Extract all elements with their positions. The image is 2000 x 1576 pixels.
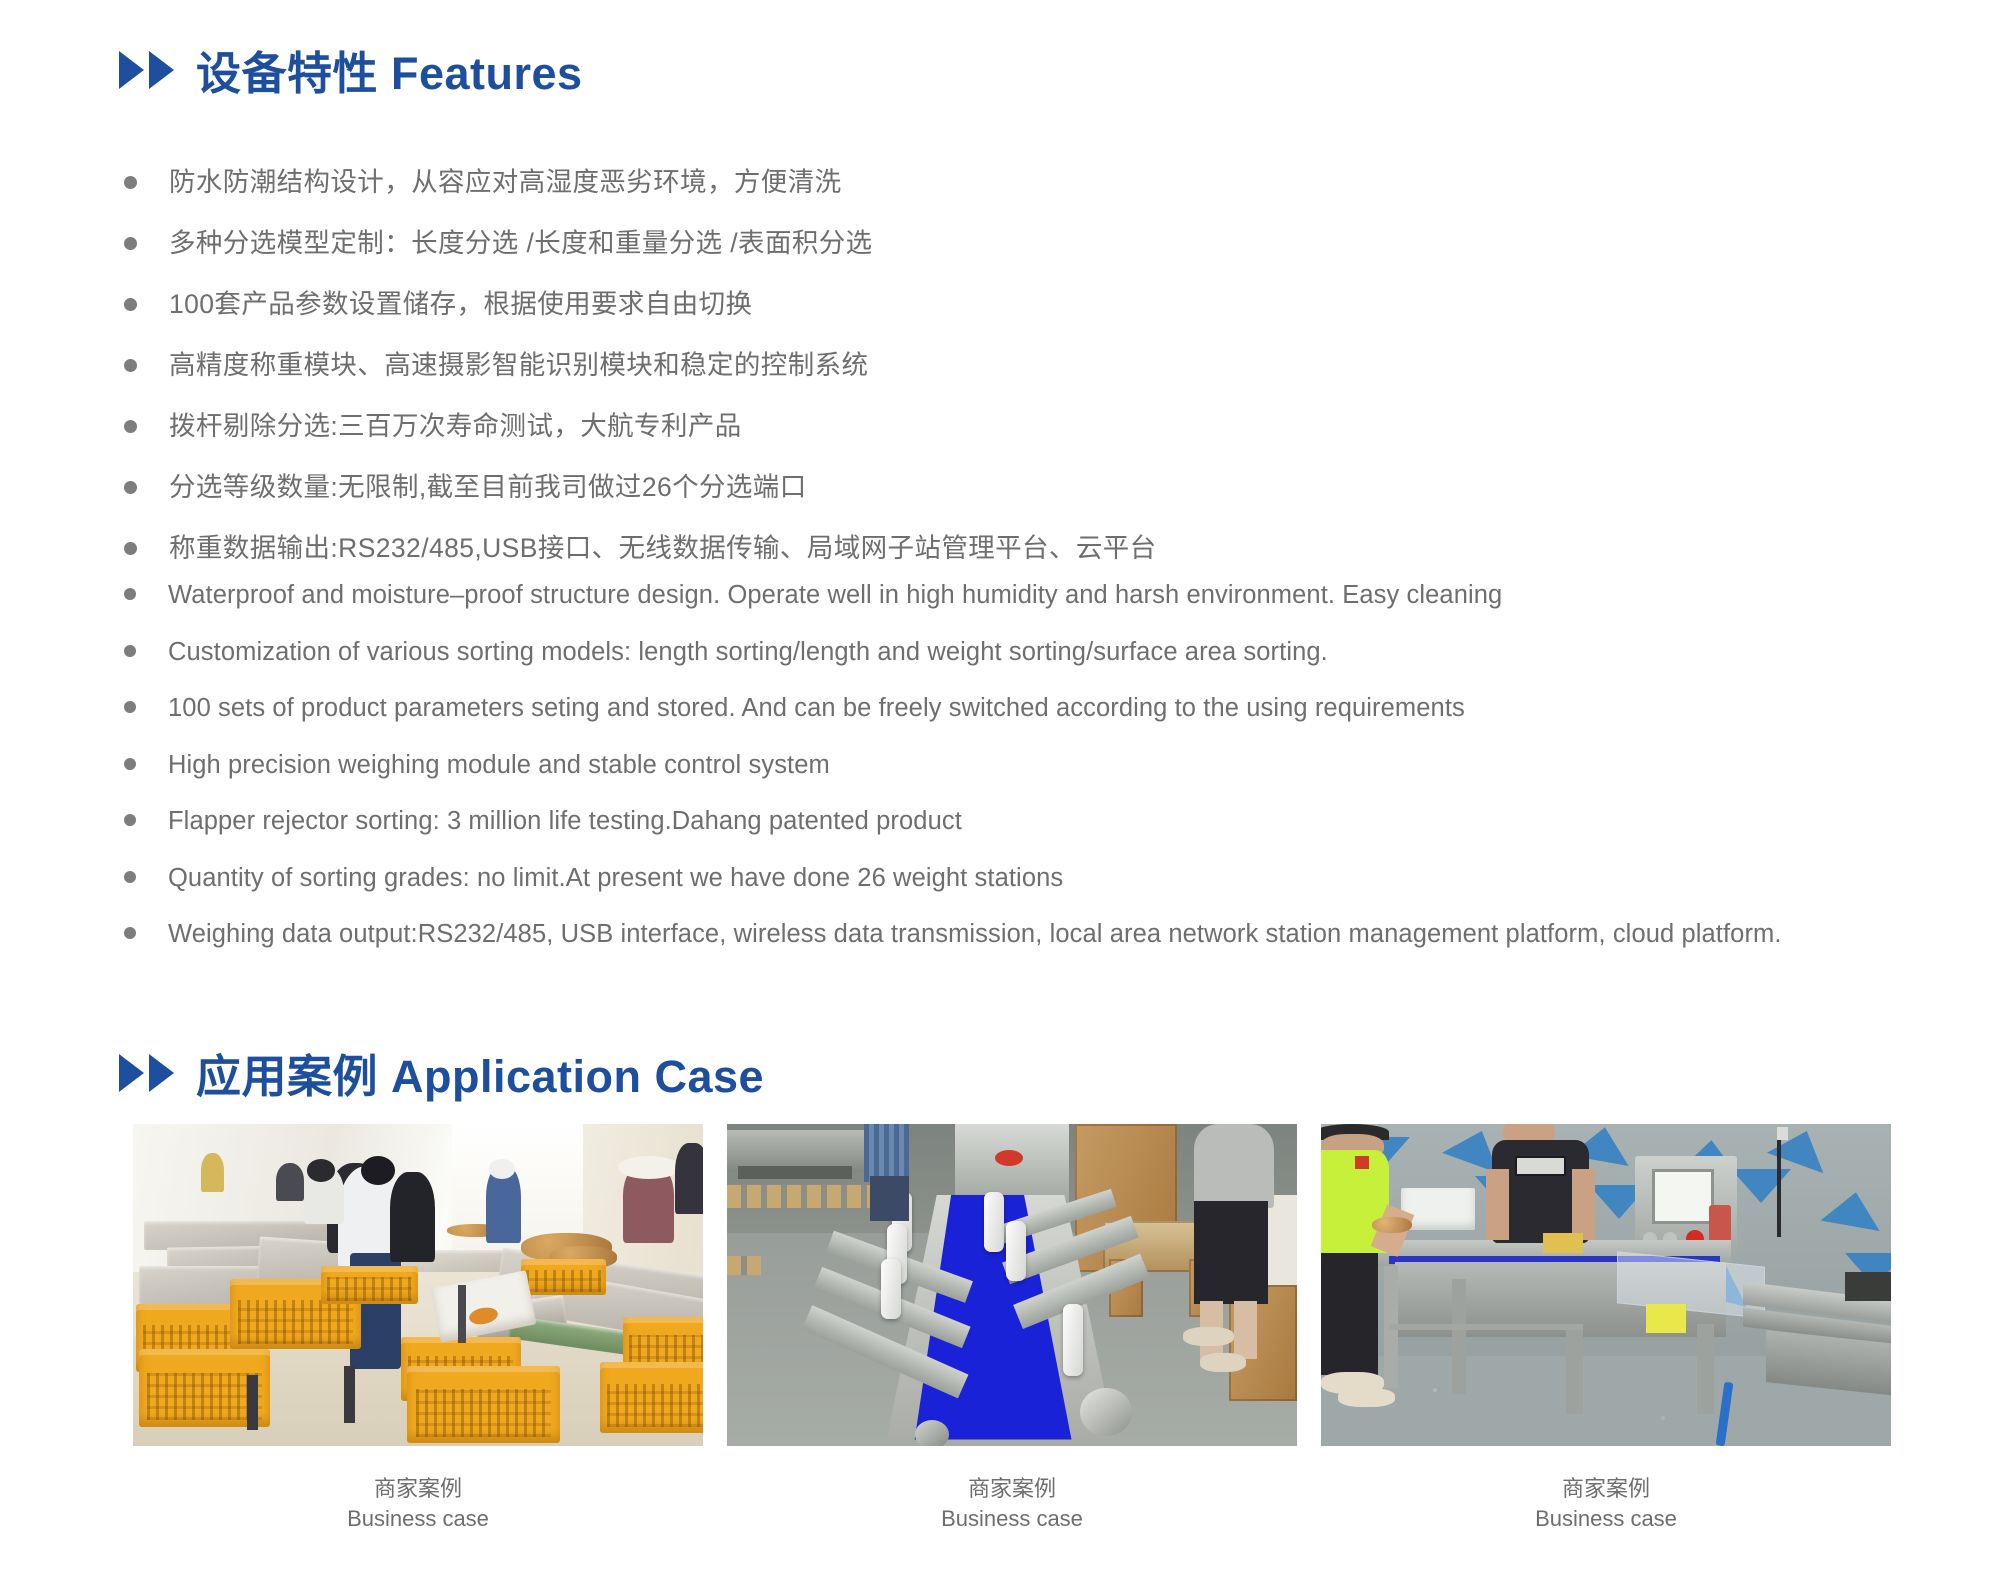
caption-chinese: 商家案例: [1321, 1474, 1891, 1504]
bullet-dot-icon: [124, 481, 137, 494]
bullet-text: 高精度称重模块、高速摄影智能识别模块和稳定的控制系统: [169, 348, 868, 383]
application-case-section-heading: 应用案例 Application Case: [115, 1040, 764, 1105]
photo-stainless-weight-sorter: [1321, 1124, 1891, 1446]
bullet-text: 100 sets of product parameters seting an…: [168, 691, 1465, 726]
bullet-dot-icon: [124, 814, 136, 826]
bullet-text: 防水防潮结构设计，从容应对高湿度恶劣环境，方便清洗: [169, 165, 842, 200]
features-bullets-english: Waterproof and moisture–proof structure …: [124, 578, 1782, 974]
bullet-text: 拨杆剔除分选:三百万次寿命测试，大航专利产品: [169, 409, 742, 444]
photo-cell-2: 商家案例 Business case: [727, 1124, 1297, 1534]
bullet-dot-icon: [124, 758, 136, 770]
product-brochure-page: 设备特性 Features 防水防潮结构设计，从容应对高湿度恶劣环境，方便清洗 …: [0, 0, 2000, 1576]
bullet-dot-icon: [124, 176, 137, 189]
bullet-text: Weighing data output:RS232/485, USB inte…: [168, 917, 1782, 952]
bullet-dot-icon: [124, 701, 136, 713]
list-item: 防水防潮结构设计，从容应对高湿度恶劣环境，方便清洗: [124, 165, 1157, 200]
list-item: 称重数据输出:RS232/485,USB接口、无线数据传输、局域网子站管理平台、…: [124, 531, 1157, 566]
list-item: High precision weighing module and stabl…: [124, 748, 1782, 783]
features-bullets-chinese: 防水防潮结构设计，从容应对高湿度恶劣环境，方便清洗 多种分选模型定制：长度分选 …: [124, 165, 1157, 592]
bullet-text: Customization of various sorting models:…: [168, 635, 1328, 670]
bullet-text: 称重数据输出:RS232/485,USB接口、无线数据传输、局域网子站管理平台、…: [169, 531, 1157, 566]
double-triangle-icon: [119, 1054, 174, 1092]
list-item: Waterproof and moisture–proof structure …: [124, 578, 1782, 613]
bullet-text: Quantity of sorting grades: no limit.At …: [168, 861, 1063, 896]
photo-cell-3: 商家案例 Business case: [1321, 1124, 1891, 1534]
caption-english: Business case: [133, 1504, 703, 1534]
list-item: Quantity of sorting grades: no limit.At …: [124, 861, 1782, 896]
bullet-dot-icon: [124, 359, 137, 372]
application-case-photo-row: 商家案例 Business case: [133, 1124, 1891, 1534]
photo-cell-1: 商家案例 Business case: [133, 1124, 703, 1534]
features-section-heading: 设备特性 Features: [115, 37, 583, 102]
photo-caption-2: 商家案例 Business case: [727, 1474, 1297, 1534]
list-item: 100 sets of product parameters seting an…: [124, 691, 1782, 726]
list-item: 100套产品参数设置储存，根据使用要求自由切换: [124, 287, 1157, 322]
bullet-text: 多种分选模型定制：长度分选 /长度和重量分选 /表面积分选: [169, 226, 873, 261]
bullet-dot-icon: [124, 298, 137, 311]
list-item: 分选等级数量:无限制,截至目前我司做过26个分选端口: [124, 470, 1157, 505]
bullet-dot-icon: [124, 237, 137, 250]
list-item: Weighing data output:RS232/485, USB inte…: [124, 917, 1782, 952]
caption-english: Business case: [727, 1504, 1297, 1534]
photo-caption-1: 商家案例 Business case: [133, 1474, 703, 1534]
photo-sorting-line-hall: [133, 1124, 703, 1446]
bullet-dot-icon: [124, 588, 136, 600]
photo-caption-3: 商家案例 Business case: [1321, 1474, 1891, 1534]
bullet-dot-icon: [124, 542, 137, 555]
caption-chinese: 商家案例: [727, 1474, 1297, 1504]
bullet-dot-icon: [124, 927, 136, 939]
application-case-heading-text: 应用案例 Application Case: [196, 1040, 764, 1105]
caption-english: Business case: [1321, 1504, 1891, 1534]
bullet-text: 100套产品参数设置储存，根据使用要求自由切换: [169, 287, 752, 322]
bullet-text: 分选等级数量:无限制,截至目前我司做过26个分选端口: [169, 470, 807, 505]
bullet-dot-icon: [124, 871, 136, 883]
list-item: 高精度称重模块、高速摄影智能识别模块和稳定的控制系统: [124, 348, 1157, 383]
photo-blue-belt-conveyor: [727, 1124, 1297, 1446]
list-item: 多种分选模型定制：长度分选 /长度和重量分选 /表面积分选: [124, 226, 1157, 261]
bullet-text: Flapper rejector sorting: 3 million life…: [168, 804, 962, 839]
bullet-text: High precision weighing module and stabl…: [168, 748, 830, 783]
features-heading-text: 设备特性 Features: [196, 37, 583, 102]
list-item: Flapper rejector sorting: 3 million life…: [124, 804, 1782, 839]
bullet-dot-icon: [124, 420, 137, 433]
list-item: 拨杆剔除分选:三百万次寿命测试，大航专利产品: [124, 409, 1157, 444]
list-item: Customization of various sorting models:…: [124, 635, 1782, 670]
caption-chinese: 商家案例: [133, 1474, 703, 1504]
double-triangle-icon: [119, 51, 174, 89]
bullet-dot-icon: [124, 645, 136, 657]
bullet-text: Waterproof and moisture–proof structure …: [168, 578, 1502, 613]
